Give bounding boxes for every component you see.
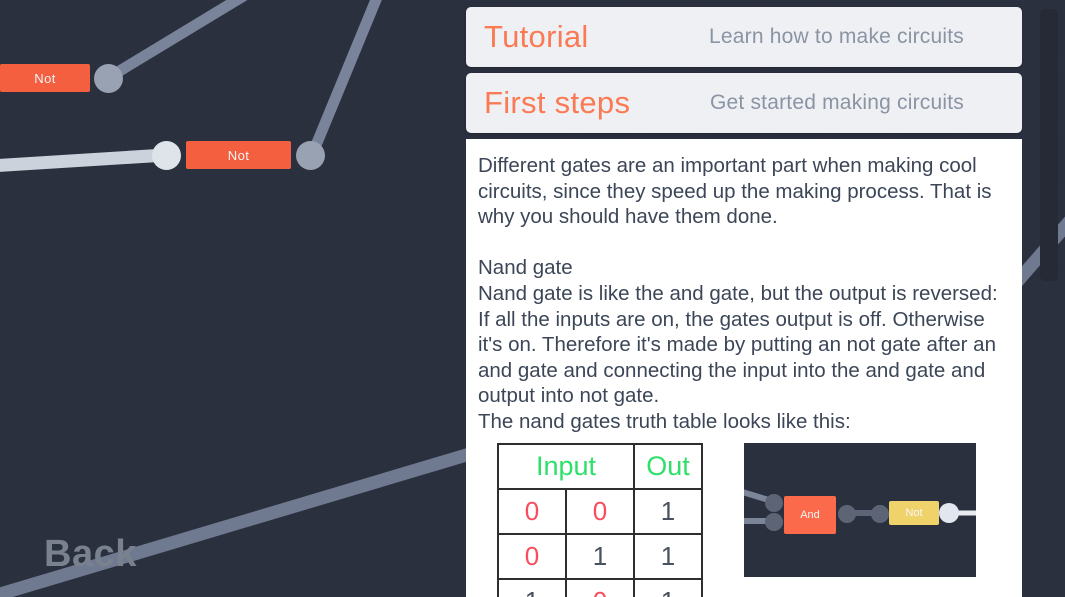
table-cell: 0 xyxy=(498,534,566,579)
tutorial-panel: Tutorial Learn how to make circuits Firs… xyxy=(466,7,1022,597)
header-card-subtitle: Get started making circuits xyxy=(710,91,1004,115)
connector-node[interactable] xyxy=(296,141,325,170)
background-gate-label: Not xyxy=(228,148,249,163)
figures-row: Input Out 0 0 1 0 1 1 xyxy=(478,443,1004,597)
table-cell: 1 xyxy=(634,489,702,534)
background-gate-not-2[interactable]: Not xyxy=(186,141,291,169)
header-card-title: Tutorial xyxy=(484,19,589,55)
table-cell: 0 xyxy=(498,489,566,534)
tutorial-body-text: Different gates are an important part wh… xyxy=(478,153,1004,435)
input-connector-node[interactable] xyxy=(765,513,783,531)
circuit-gate-label: And xyxy=(800,509,820,521)
table-cell: 1 xyxy=(634,534,702,579)
table-row: 0 1 1 xyxy=(498,534,702,579)
circuit-gate-label: Not xyxy=(905,507,922,519)
table-cell: 0 xyxy=(566,489,634,534)
truth-table: Input Out 0 0 1 0 1 1 xyxy=(497,443,703,597)
table-cell: 1 xyxy=(498,579,566,597)
table-cell: 1 xyxy=(634,579,702,597)
back-button[interactable]: Back xyxy=(44,533,137,576)
connector-node[interactable] xyxy=(94,64,123,93)
table-row: 0 0 1 xyxy=(498,489,702,534)
header-card-first-steps[interactable]: First steps Get started making circuits xyxy=(466,73,1022,133)
table-header-input: Input xyxy=(498,444,634,489)
header-card-title: First steps xyxy=(484,85,630,121)
table-row: 1 0 1 xyxy=(498,579,702,597)
connector-node[interactable] xyxy=(838,505,856,523)
header-card-subtitle: Learn how to make circuits xyxy=(709,25,1004,49)
connector-node[interactable] xyxy=(152,141,181,170)
table-cell: 0 xyxy=(566,579,634,597)
input-connector-node[interactable] xyxy=(765,494,783,512)
table-cell: 1 xyxy=(566,534,634,579)
background-gate-not-1[interactable]: Not xyxy=(0,64,90,92)
output-connector-node[interactable] xyxy=(939,503,959,523)
tutorial-screen: Not Not Back Tutorial Learn how to make … xyxy=(0,0,1065,597)
circuit-gate-and[interactable]: And xyxy=(784,496,836,534)
table-header-row: Input Out xyxy=(498,444,702,489)
nand-circuit-figure: And Not xyxy=(744,443,976,577)
connector-node[interactable] xyxy=(871,505,889,523)
background-gate-label: Not xyxy=(34,71,55,86)
table-header-out: Out xyxy=(634,444,702,489)
scrollbar-track[interactable] xyxy=(1040,9,1058,281)
circuit-gate-not[interactable]: Not xyxy=(889,501,939,525)
tutorial-content-card: Different gates are an important part wh… xyxy=(466,139,1022,597)
header-card-tutorial[interactable]: Tutorial Learn how to make circuits xyxy=(466,7,1022,67)
